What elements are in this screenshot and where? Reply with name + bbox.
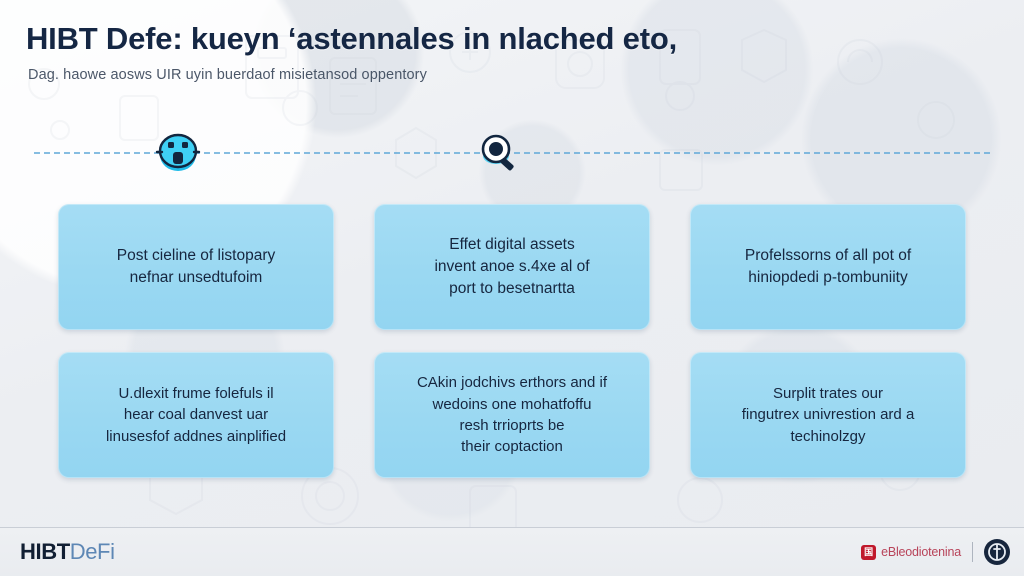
slide-canvas: HIBT Defe: kueyn ‘astennales in nlached … bbox=[0, 0, 1024, 576]
card-text: U.dlexit frume folefuls il hear coal dan… bbox=[106, 383, 286, 447]
timeline bbox=[34, 152, 990, 154]
slide-footer: HIBTDeFi 国 eBleodiotenina bbox=[0, 527, 1024, 576]
coin-icon[interactable] bbox=[984, 539, 1010, 565]
timeline-node-1[interactable] bbox=[154, 128, 202, 176]
footer-divider bbox=[972, 542, 973, 562]
partner-badge[interactable]: 国 eBleodiotenina bbox=[861, 545, 961, 560]
card-text: CAkin jodchivs erthors and if wedoins on… bbox=[417, 372, 607, 457]
card-grid: Post cieline of listopary nefnar unsedtu… bbox=[58, 204, 978, 478]
certification-seal-icon: 国 bbox=[861, 545, 876, 560]
card-text: Profelssorns of all pot of hiniopdedi p-… bbox=[745, 245, 911, 289]
card-5[interactable]: CAkin jodchivs erthors and if wedoins on… bbox=[374, 352, 650, 478]
page-title: HIBT Defe: kueyn ‘astennales in nlached … bbox=[26, 22, 998, 57]
brand-logo-mark: HIBT bbox=[20, 539, 70, 564]
brand-logo[interactable]: HIBTDeFi bbox=[20, 539, 115, 565]
slide-header: HIBT Defe: kueyn ‘astennales in nlached … bbox=[26, 22, 998, 83]
card-1[interactable]: Post cieline of listopary nefnar unsedtu… bbox=[58, 204, 334, 330]
coin-glyph-icon bbox=[984, 539, 1010, 565]
card-text: Surplit trates our fingutrex univrestion… bbox=[742, 383, 915, 447]
card-4[interactable]: U.dlexit frume folefuls il hear coal dan… bbox=[58, 352, 334, 478]
robot-head-icon bbox=[154, 128, 202, 176]
partner-badge-label: eBleodiotenina bbox=[881, 545, 961, 559]
card-6[interactable]: Surplit trates our fingutrex univrestion… bbox=[690, 352, 966, 478]
magnifier-icon bbox=[474, 128, 522, 176]
brand-logo-suffix: DeFi bbox=[70, 539, 115, 564]
footer-right-group: 国 eBleodiotenina bbox=[861, 539, 1010, 565]
page-subtitle: Dag. haowe aosws UIR uyin buerdaof misie… bbox=[28, 67, 998, 83]
card-3[interactable]: Profelssorns of all pot of hiniopdedi p-… bbox=[690, 204, 966, 330]
card-2[interactable]: Effet digital assets invent anoe s.4xe a… bbox=[374, 204, 650, 330]
card-text: Post cieline of listopary nefnar unsedtu… bbox=[117, 245, 276, 289]
timeline-node-2[interactable] bbox=[474, 128, 522, 176]
card-text: Effet digital assets invent anoe s.4xe a… bbox=[434, 234, 589, 300]
